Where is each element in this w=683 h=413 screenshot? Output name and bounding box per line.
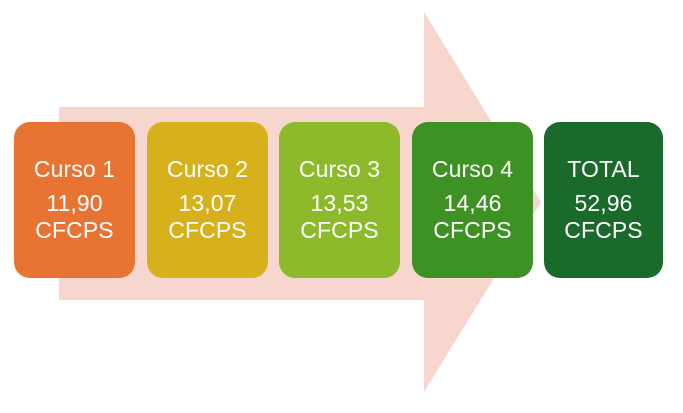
stage-box-label: Curso 1 [34,156,115,183]
stage-box-curso-3[interactable]: Curso 3 13,53 CFCPS [279,122,400,278]
stage-box-value: 13,53 [310,190,368,217]
stage-box-unit: CFCPS [35,217,113,244]
stage-box-label: Curso 3 [299,156,380,183]
stage-box-label: Curso 2 [167,156,248,183]
stage-box-label: TOTAL [567,156,640,183]
stage-box-value: 52,96 [574,190,632,217]
stage-box-total[interactable]: TOTAL 52,96 CFCPS [544,122,663,278]
stage-box-label: Curso 4 [432,156,513,183]
diagram-canvas: Curso 1 11,90 CFCPS Curso 2 13,07 CFCPS … [0,0,683,413]
stage-box-curso-1[interactable]: Curso 1 11,90 CFCPS [14,122,135,278]
stage-box-value: 11,90 [46,190,102,217]
stage-box-list: Curso 1 11,90 CFCPS Curso 2 13,07 CFCPS … [0,0,683,413]
stage-box-curso-2[interactable]: Curso 2 13,07 CFCPS [147,122,268,278]
stage-box-value: 13,07 [178,190,236,217]
stage-box-unit: CFCPS [433,217,511,244]
stage-box-unit: CFCPS [300,217,378,244]
stage-box-unit: CFCPS [168,217,246,244]
stage-box-value: 14,46 [443,190,501,217]
stage-box-curso-4[interactable]: Curso 4 14,46 CFCPS [412,122,533,278]
stage-box-unit: CFCPS [564,217,642,244]
